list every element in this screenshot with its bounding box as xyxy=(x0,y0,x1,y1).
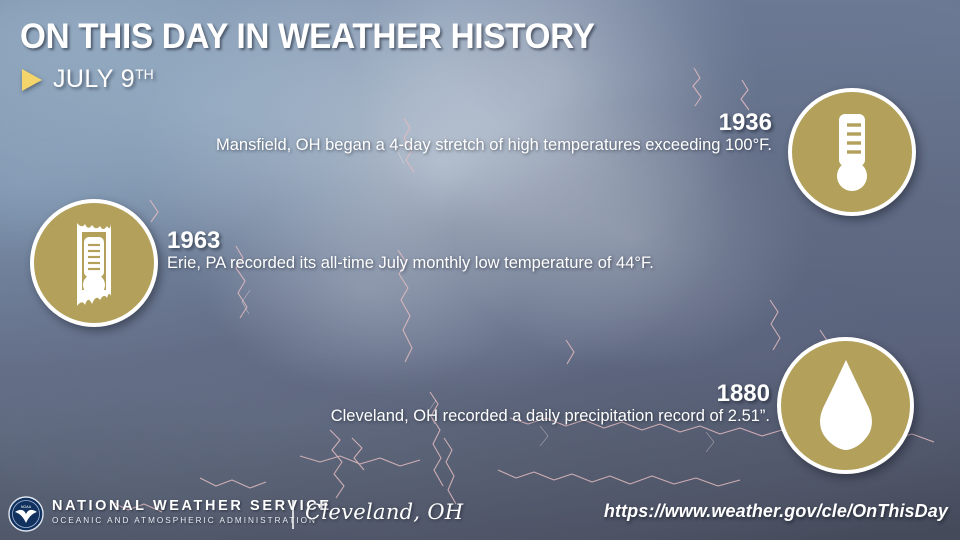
date-label: JULY 9TH xyxy=(53,65,154,94)
footer-divider xyxy=(292,500,294,529)
badge-1963[interactable] xyxy=(30,199,158,327)
infographic-canvas: ON THIS DAY IN WEATHER HISTORY JULY 9TH … xyxy=(0,0,960,540)
footer: NOAA NATIONAL WEATHER SERVICE OCEANIC AN… xyxy=(0,488,960,540)
entry-1936: 1936 Mansfield, OH began a 4-day stretch… xyxy=(132,110,772,157)
raindrop-icon xyxy=(811,358,881,454)
agency-identity: NATIONAL WEATHER SERVICE OCEANIC AND ATM… xyxy=(52,498,332,525)
entry-1963: 1963 Erie, PA recorded its all-time July… xyxy=(167,228,807,275)
noaa-seagull-logo: NOAA xyxy=(8,496,44,532)
entry-year: 1936 xyxy=(132,110,772,135)
office-name: Cleveland, OH xyxy=(305,500,464,524)
thermometer-frozen-icon xyxy=(65,217,123,309)
entry-year: 1963 xyxy=(167,228,807,253)
entry-description: Erie, PA recorded its all-time July mont… xyxy=(167,253,807,275)
entry-1880: 1880 Cleveland, OH recorded a daily prec… xyxy=(130,381,770,428)
date-ordinal-suffix: TH xyxy=(135,66,154,82)
page-title: ON THIS DAY IN WEATHER HISTORY xyxy=(20,17,595,57)
agency-name: NATIONAL WEATHER SERVICE xyxy=(52,498,332,514)
entry-description: Mansfield, OH began a 4-day stretch of h… xyxy=(132,135,772,157)
website-url[interactable]: https://www.weather.gov/cle/OnThisDay xyxy=(604,501,948,522)
agency-subtitle: OCEANIC AND ATMOSPHERIC ADMINISTRATION xyxy=(52,516,332,525)
play-triangle-icon xyxy=(22,69,42,91)
svg-text:NOAA: NOAA xyxy=(21,505,32,509)
thermometer-hot-icon xyxy=(827,110,877,194)
badge-1936[interactable] xyxy=(788,88,916,216)
entry-description: Cleveland, OH recorded a daily precipita… xyxy=(130,406,770,428)
badge-1880[interactable] xyxy=(777,337,914,474)
date-text: JULY 9 xyxy=(53,65,135,93)
entry-year: 1880 xyxy=(130,381,770,406)
date-subtitle: JULY 9TH xyxy=(22,65,154,94)
